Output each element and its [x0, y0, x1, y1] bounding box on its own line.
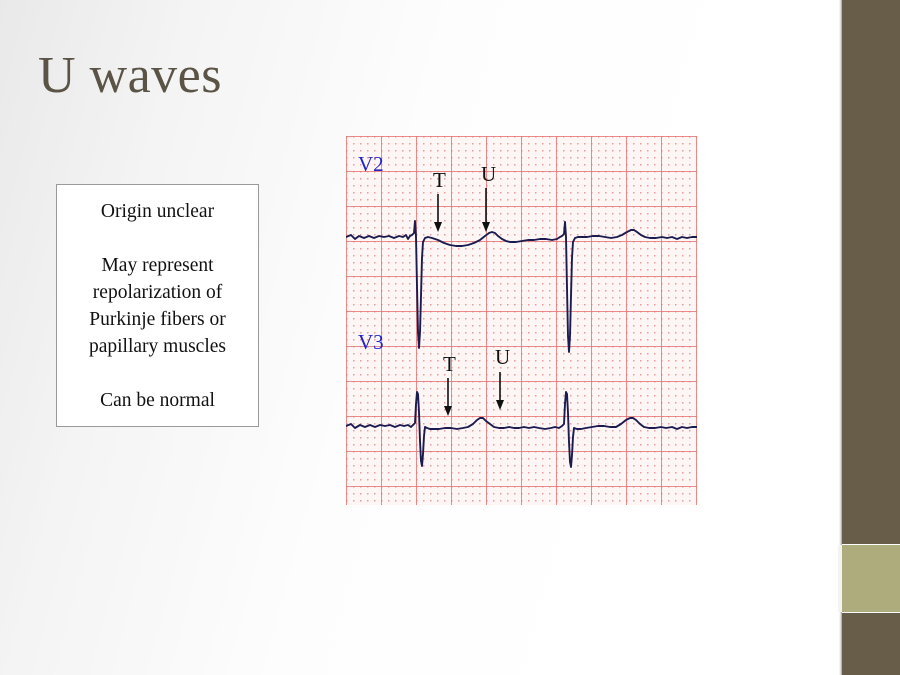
ecg-annotation-u-v2: U: [481, 164, 496, 185]
down-arrow-icon: [494, 372, 506, 410]
rail-segment-top: [842, 0, 900, 544]
ecg-annotation-u-v3: U: [495, 347, 510, 368]
info-line: Origin unclear: [101, 198, 214, 225]
down-arrow-icon: [442, 378, 454, 416]
page-title: U waves: [38, 45, 222, 107]
info-line: papillary muscles: [89, 333, 226, 360]
ecg-trace-v2: [346, 221, 697, 352]
info-line: Can be normal: [100, 387, 215, 414]
down-arrow-icon: [480, 188, 492, 232]
decorative-right-rail: [842, 0, 900, 675]
rail-segment-bottom: [842, 613, 900, 675]
down-arrow-icon: [432, 194, 444, 232]
rail-accent-notch: [838, 545, 842, 612]
info-line: repolarization of: [93, 279, 222, 306]
ecg-lead-label-v3: V3: [358, 332, 384, 353]
info-line: Purkinje fibers or: [89, 306, 225, 333]
ecg-lead-label-v2: V2: [358, 154, 384, 175]
slide: U waves Origin unclear May represent rep…: [0, 0, 900, 675]
ecg-annotation-t-v2: T: [433, 170, 446, 191]
info-text-box: Origin unclear May represent repolarizat…: [56, 184, 259, 427]
ecg-traces: [346, 136, 697, 505]
ecg-trace-v3: [346, 392, 697, 467]
rail-segment-accent: [842, 545, 900, 612]
info-line: May represent: [101, 252, 213, 279]
ecg-annotation-t-v3: T: [443, 354, 456, 375]
ecg-figure: V2 V3 T U T U: [346, 136, 697, 505]
